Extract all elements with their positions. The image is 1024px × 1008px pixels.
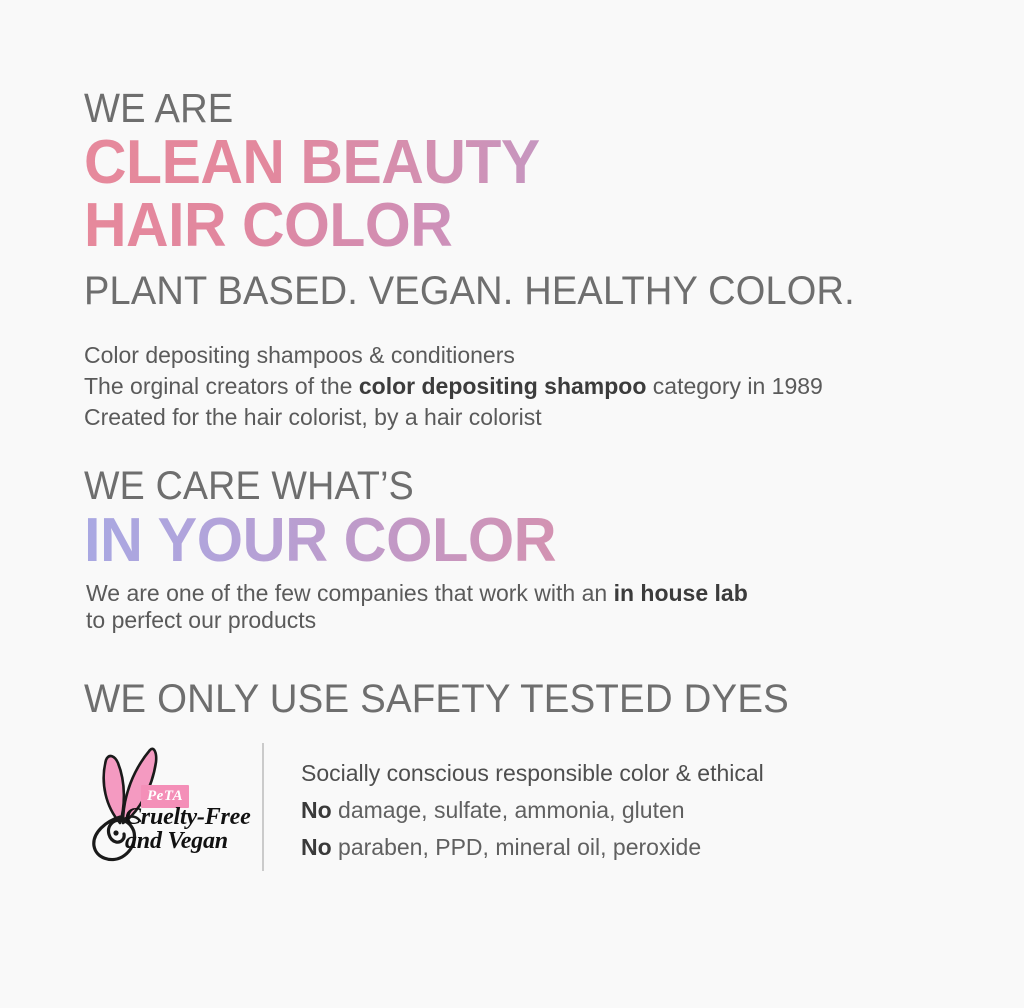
hero-headline-line-2: HAIR COLOR bbox=[84, 193, 920, 258]
peta-cruelty-free-logo: PeTA Cruelty-Free and Vegan bbox=[84, 745, 254, 870]
lead-line-2: The orginal creators of the color deposi… bbox=[84, 371, 964, 402]
peta-wordmark-text: PeTA bbox=[147, 788, 183, 804]
claim-text-2: paraben, PPD, mineral oil, peroxide bbox=[332, 834, 701, 860]
claim-prefix-1: No bbox=[301, 797, 332, 823]
hero-tagline: PLANT BASED. VEGAN. HEALTHY COLOR. bbox=[84, 270, 920, 312]
claim-text-0: Socially conscious responsible color & e… bbox=[301, 760, 764, 786]
safety-heading: WE ONLY USE SAFETY TESTED DYES bbox=[84, 679, 789, 719]
care-eyebrow: WE CARE WHAT’S bbox=[84, 466, 911, 506]
peta-tagline: Cruelty-Free and Vegan bbox=[125, 805, 251, 853]
lead-line-2-prefix: The orginal creators of the bbox=[84, 373, 359, 399]
claim-item: Socially conscious responsible color & e… bbox=[301, 755, 964, 792]
hero-headline-line-1: CLEAN BEAUTY bbox=[84, 130, 920, 195]
claim-item: No damage, sulfate, ammonia, gluten bbox=[301, 792, 964, 829]
bottom-section: PeTA Cruelty-Free and Vegan Socially con… bbox=[84, 745, 964, 871]
hero-block: WE ARE CLEAN BEAUTY HAIR COLOR PLANT BAS… bbox=[84, 88, 964, 312]
hero-eyebrow: WE ARE bbox=[84, 88, 902, 128]
lead-line-3: Created for the hair colorist, by a hair… bbox=[84, 402, 964, 433]
care-copy-line-2: to perfect our products bbox=[86, 607, 966, 634]
peta-tagline-line-2: and Vegan bbox=[125, 829, 251, 853]
claim-text-1: damage, sulfate, ammonia, gluten bbox=[332, 797, 685, 823]
claim-prefix-2: No bbox=[301, 834, 332, 860]
care-block: WE CARE WHAT’S IN YOUR COLOR bbox=[84, 466, 964, 573]
care-copy-prefix: We are one of the few companies that wor… bbox=[86, 580, 614, 606]
care-paragraph: We are one of the few companies that wor… bbox=[86, 580, 966, 634]
lead-paragraph: Color depositing shampoos & conditioners… bbox=[84, 340, 964, 433]
care-copy-line-1: We are one of the few companies that wor… bbox=[86, 580, 966, 607]
care-headline: IN YOUR COLOR bbox=[84, 508, 929, 573]
marketing-page: WE ARE CLEAN BEAUTY HAIR COLOR PLANT BAS… bbox=[0, 0, 1024, 1008]
claim-item: No paraben, PPD, mineral oil, peroxide bbox=[301, 829, 964, 866]
care-copy-emphasis: in house lab bbox=[614, 580, 748, 606]
lead-line-2-suffix: category in 1989 bbox=[646, 373, 822, 399]
claims-list: Socially conscious responsible color & e… bbox=[264, 745, 964, 866]
lead-line-1: Color depositing shampoos & conditioners bbox=[84, 340, 964, 371]
lead-line-2-emphasis: color depositing shampoo bbox=[359, 373, 647, 399]
peta-tagline-line-1: Cruelty-Free bbox=[125, 805, 251, 829]
